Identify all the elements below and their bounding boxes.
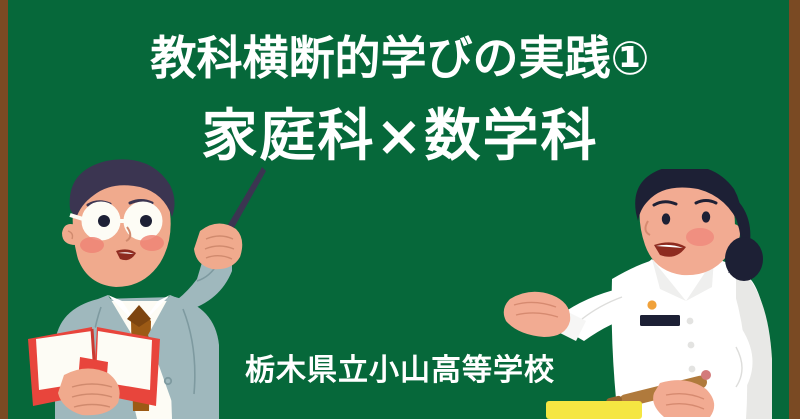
- teacher-open-hand: [504, 292, 570, 337]
- teacher-hand-pointer: [194, 223, 242, 269]
- slide-canvas: 教科横断的学びの実践① 家庭科×数学科 栃木県立小山高等学校: [0, 0, 800, 419]
- male-teacher-illustration: [0, 159, 310, 419]
- cutting-board-icon: [546, 401, 642, 419]
- female-teacher-illustration: [500, 169, 800, 419]
- teacher-head: [62, 159, 175, 287]
